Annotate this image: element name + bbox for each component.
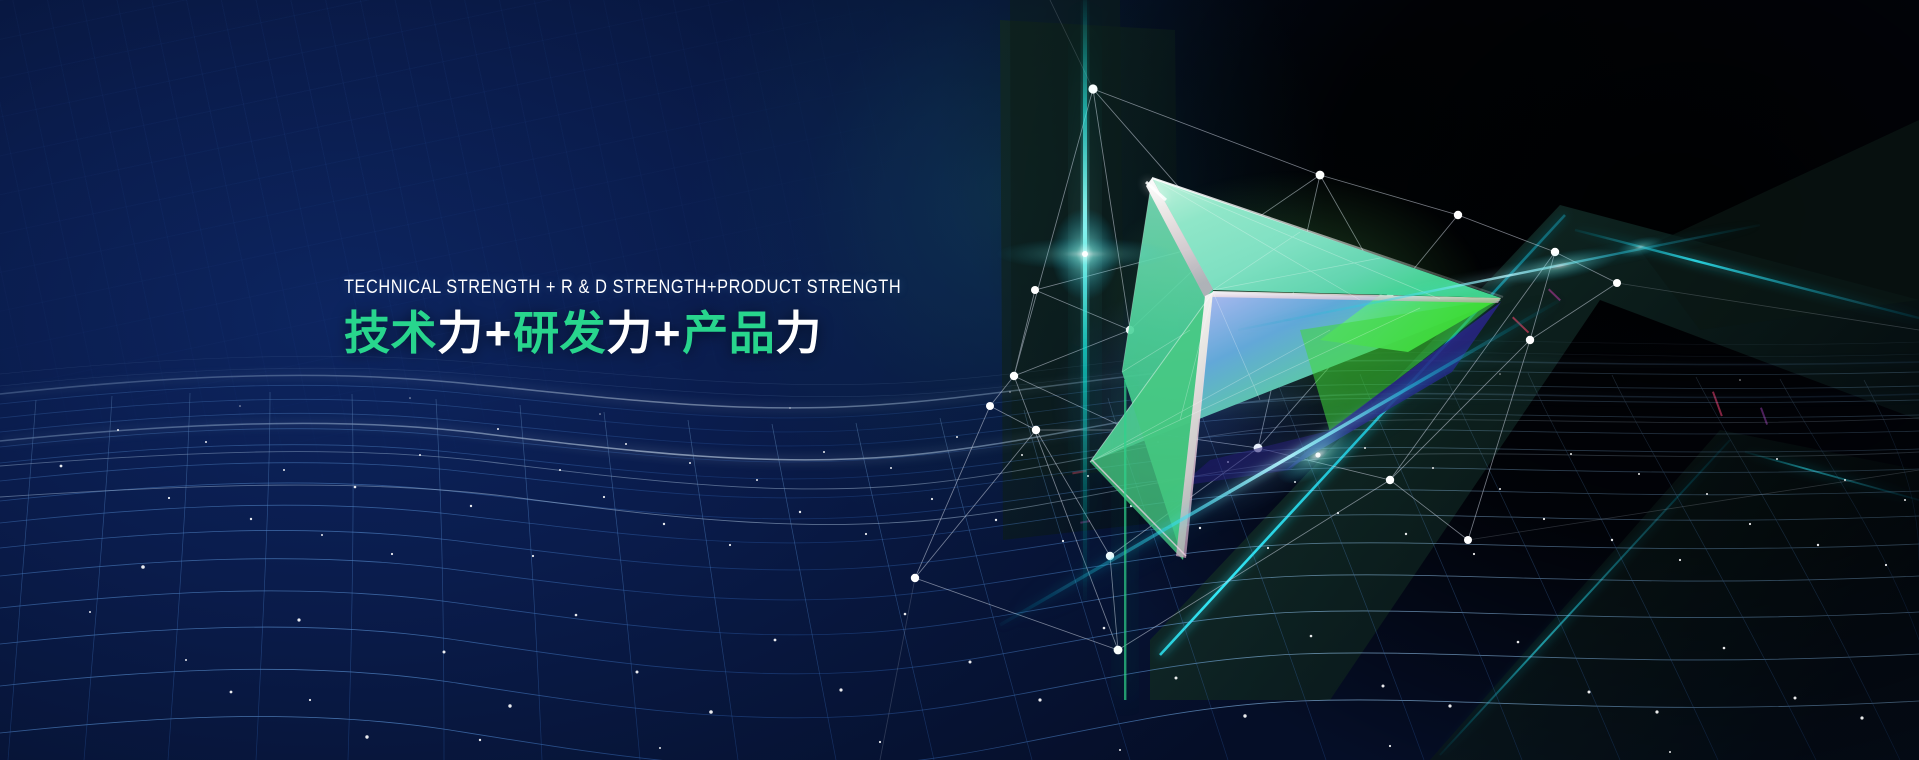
triangle-bevel-spine-upper (1146, 178, 1213, 298)
title-separator-plus-2: + (653, 307, 682, 359)
title-segment-rd: 研发 (513, 307, 606, 359)
title-segment-power-2: 力 (606, 307, 653, 359)
particle-dots-layer (0, 0, 1919, 760)
play-triangle-prism (0, 0, 1919, 760)
triangle-face-bottom (1090, 292, 1501, 462)
triangle-bevel-spine-lower (1176, 292, 1213, 558)
dark-chevron-arrow-lower (1430, 430, 1919, 760)
arrow-cyan-edges (1160, 215, 1919, 755)
page-title: 技术力+研发力+产品力 (344, 309, 992, 359)
title-segment-power-1: 力 (437, 307, 484, 359)
title-segment-power-3: 力 (775, 307, 822, 359)
eyebrow-tagline: TECHNICAL STRENGTH + R & D STRENGTH+PROD… (344, 278, 901, 297)
cyan-light-beams (0, 0, 1919, 760)
triangle-top-edge-highlight (1152, 178, 1503, 297)
title-separator-plus-1: + (484, 307, 513, 359)
accent-ticks (1072, 289, 1768, 524)
background-base-gradient (0, 0, 1919, 760)
vertical-cyan-beam (995, 0, 1175, 600)
title-segment-tech: 技术 (344, 307, 437, 359)
dark-vertical-panel-inner (1010, 0, 1125, 480)
triangle-green-sheen (1300, 299, 1501, 432)
triangle-facet-lines (1090, 178, 1440, 462)
triangle-violet-shade-2 (1180, 428, 1340, 486)
triangle-face-top (1152, 178, 1501, 298)
triangle-face-right-green (1320, 295, 1501, 352)
dark-geometry-layer (0, 0, 1919, 760)
node-link-constellation (0, 0, 1919, 760)
hero-banner: TECHNICAL STRENGTH + R & D STRENGTH+PROD… (0, 0, 1919, 760)
triangle-side-left-lower (1090, 292, 1213, 560)
triangle-bevel-horizontal (1212, 291, 1501, 303)
triangle-lower-edge (1090, 292, 1213, 462)
triangle-side-left (1122, 178, 1213, 560)
constellation-links (880, 0, 1919, 760)
constellation-nodes (911, 84, 1621, 654)
dark-vertical-panel (1000, 20, 1180, 540)
background-green-haze (0, 0, 1919, 760)
upper-right-cyan-beam (1238, 225, 1760, 330)
triangle-bevel-rim (1092, 460, 1186, 556)
dark-panel-upper-right (1640, 120, 1919, 330)
dark-chevron-arrow (1150, 205, 1919, 700)
title-segment-product: 产品 (682, 307, 775, 359)
background-right-shadow (0, 0, 1919, 760)
background-perspective-grid (0, 0, 1919, 760)
green-vertical-beam (1121, 380, 1129, 700)
triangle-violet-shade (1286, 302, 1501, 470)
triangle-apex-glint (1146, 182, 1166, 200)
wireframe-terrain-mesh (0, 0, 1919, 760)
mesh-lines-group (0, 340, 1919, 760)
diagonal-cyan-beam (1000, 300, 1560, 625)
headline-block: TECHNICAL STRENGTH + R & D STRENGTH+PROD… (344, 278, 992, 359)
